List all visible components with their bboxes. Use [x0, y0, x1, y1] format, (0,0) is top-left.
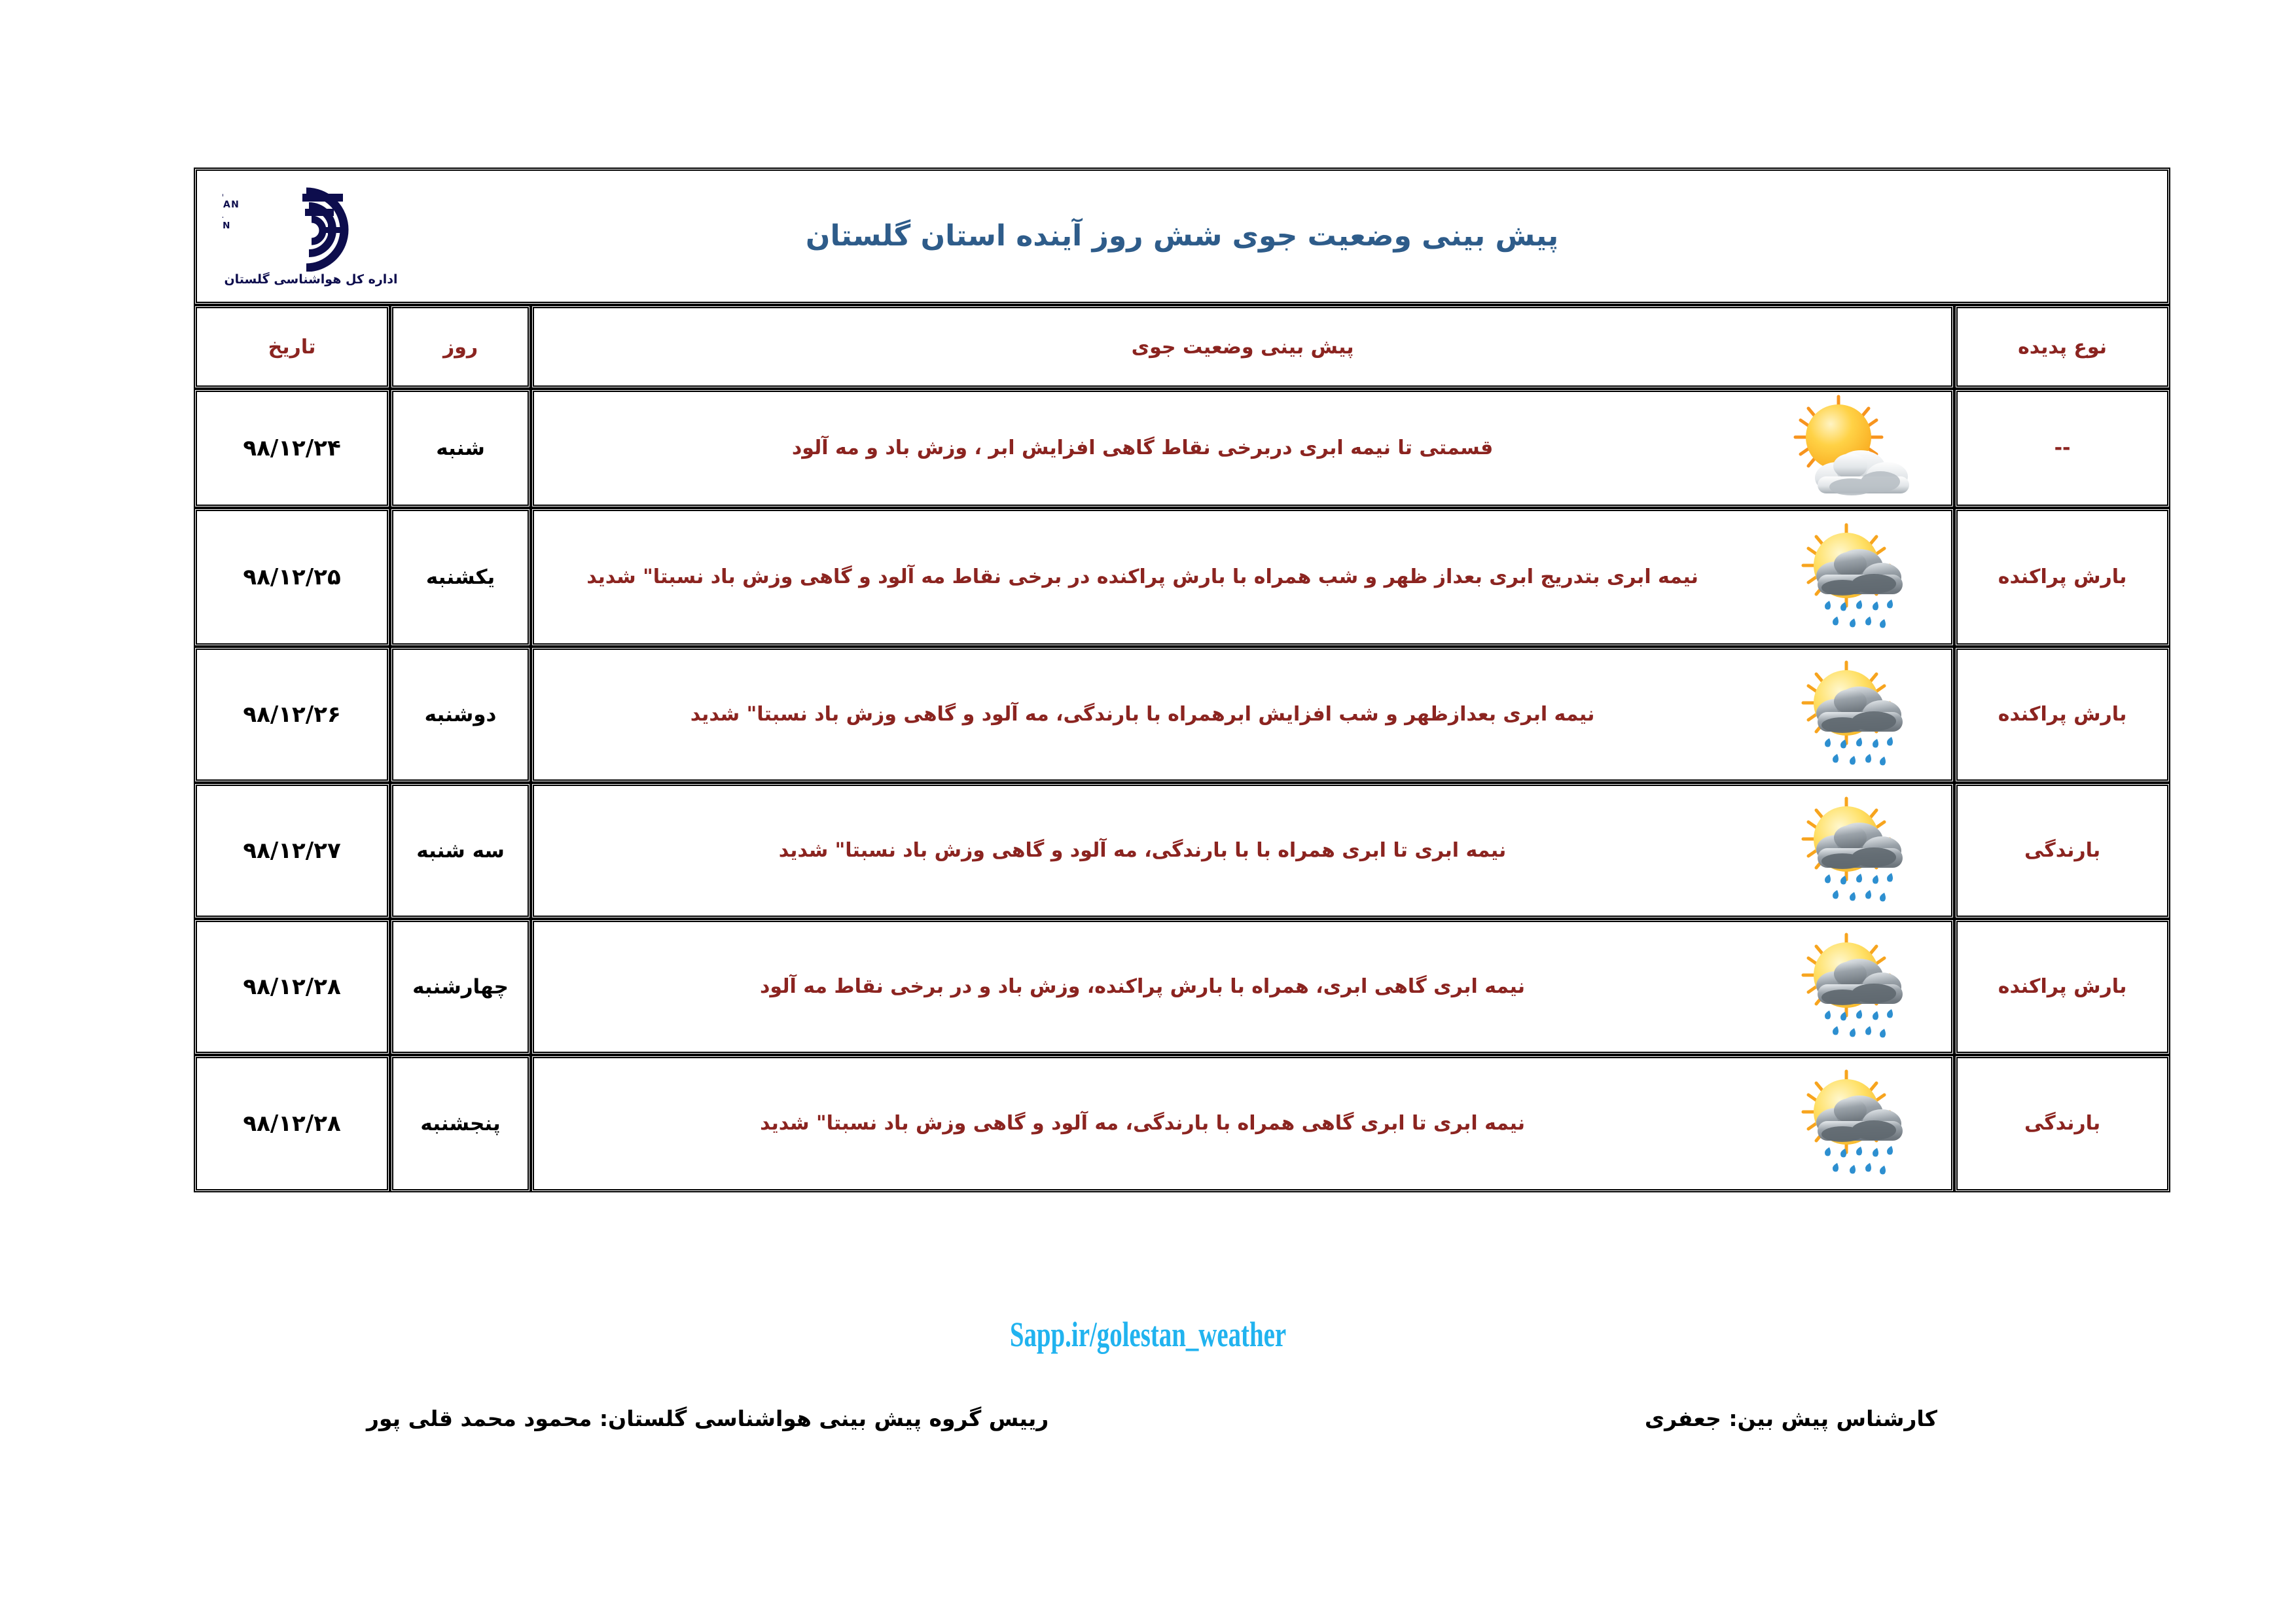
sun-cloud-rain-icon — [1782, 794, 1924, 907]
meteorological-spiral-icon: سازمان هواشناسی کشور IRANIAN METEOROLOGI… — [223, 185, 399, 272]
cell-date: ۹۸/۱۲/۲۸ — [194, 1055, 390, 1192]
page-title: پیش بینی وضعیت جوی شش روز آینده استان گل… — [197, 217, 2167, 255]
cell-date: ۹۸/۱۲/۲۷ — [194, 783, 390, 919]
partly-cloudy-icon — [1782, 394, 1924, 503]
cell-phenomenon: -- — [1954, 389, 2170, 508]
cell-day: یکشنبه — [390, 508, 531, 647]
cell-day: شنبه — [390, 389, 531, 508]
svg-text:IRANIAN: IRANIAN — [223, 200, 240, 210]
weather-icon-slot — [1755, 1067, 1951, 1180]
cell-forecast: نیمه ابری تا ابری گاهی همراه با بارندگی،… — [531, 1055, 1954, 1192]
forecast-text: نیمه ابری بتدریج ابری بعداز ظهر و شب همر… — [534, 550, 1755, 605]
table-row: -- — [194, 389, 2170, 508]
svg-text:ORGANIZATION: ORGANIZATION — [223, 221, 230, 231]
cell-phenomenon: بارندگی — [1954, 783, 2170, 919]
title-cell: پیش بینی وضعیت جوی شش روز آینده استان گل… — [194, 168, 2170, 305]
svg-text:سازمان هواشناسی کشور: سازمان هواشناسی کشور — [223, 190, 224, 200]
cell-date: ۹۸/۱۲/۲۵ — [194, 508, 390, 647]
table-row: بارش پراکنده — [194, 647, 2170, 783]
table-row: بارندگی — [194, 1055, 2170, 1192]
cell-day: چهارشنبه — [390, 919, 531, 1055]
sun-cloud-rain-icon — [1782, 658, 1924, 771]
title-row: پیش بینی وضعیت جوی شش روز آینده استان گل… — [194, 168, 2170, 305]
forecast-table: پیش بینی وضعیت جوی شش روز آینده استان گل… — [194, 168, 2170, 1192]
sun-cloud-rain-icon — [1782, 521, 1924, 633]
weather-icon-slot — [1755, 394, 1951, 503]
weather-icon-slot — [1755, 521, 1951, 633]
cell-forecast: نیمه ابری تا ابری همراه با با بارندگی، م… — [531, 783, 1954, 919]
cell-forecast: نیمه ابری گاهی ابری، همراه با بارش پراکن… — [531, 919, 1954, 1055]
column-header-date: تاریخ — [194, 305, 390, 389]
sun-cloud-rain-icon — [1782, 931, 1924, 1043]
document-page: پیش بینی وضعیت جوی شش روز آینده استان گل… — [0, 0, 2296, 1623]
cell-day: پنجشنبه — [390, 1055, 531, 1192]
weather-icon-slot — [1755, 794, 1951, 907]
svg-text:METEOROLOGICAL: METEOROLOGICAL — [223, 210, 224, 221]
table-row: بارش پراکنده — [194, 919, 2170, 1055]
organization-logo: سازمان هواشناسی کشور IRANIAN METEOROLOGI… — [213, 175, 409, 296]
cell-forecast: نیمه ابری بعدازظهر و شب افزایش ابرهمراه … — [531, 647, 1954, 783]
cell-phenomenon: بارش پراکنده — [1954, 508, 2170, 647]
weather-icon-slot — [1755, 931, 1951, 1043]
sun-cloud-rain-icon — [1782, 1067, 1924, 1180]
cell-date: ۹۸/۱۲/۲۶ — [194, 647, 390, 783]
column-header-forecast: پیش بینی وضعیت جوی — [531, 305, 1954, 389]
forecaster-signature: کارشناس پیش بین: جعفری — [1645, 1406, 1937, 1431]
forecast-text: نیمه ابری تا ابری گاهی همراه با بارندگی،… — [534, 1097, 1755, 1151]
forecast-text: نیمه ابری تا ابری همراه با با بارندگی، م… — [534, 824, 1755, 878]
cell-date: ۹۸/۱۲/۲۴ — [194, 389, 390, 508]
forecast-text: قسمتی تا نیمه ابری دربرخی نقاط گاهی افزا… — [534, 421, 1755, 476]
logo-caption: اداره کل هواشناسی گلستان — [224, 272, 397, 287]
cell-phenomenon: بارش پراکنده — [1954, 647, 2170, 783]
cell-day: سه شنبه — [390, 783, 531, 919]
weather-icon-slot — [1755, 658, 1951, 771]
cell-forecast: قسمتی تا نیمه ابری دربرخی نقاط گاهی افزا… — [531, 389, 1954, 508]
signature-row: کارشناس پیش بین: جعفری رییس گروه پیش بین… — [367, 1406, 1937, 1431]
cell-phenomenon: بارش پراکنده — [1954, 919, 2170, 1055]
sapp-channel-link[interactable]: Sapp.ir/golestan_weather — [321, 1314, 1975, 1355]
table-row: بارندگی — [194, 783, 2170, 919]
cell-phenomenon: بارندگی — [1954, 1055, 2170, 1192]
forecast-text: نیمه ابری بعدازظهر و شب افزایش ابرهمراه … — [534, 688, 1755, 742]
table-header-row: نوع پدیده پیش بینی وضعیت جوی روز تاریخ — [194, 305, 2170, 389]
column-header-day: روز — [390, 305, 531, 389]
cell-day: دوشنبه — [390, 647, 531, 783]
forecast-text: نیمه ابری گاهی ابری، همراه با بارش پراکن… — [534, 960, 1755, 1014]
cell-forecast: نیمه ابری بتدریج ابری بعداز ظهر و شب همر… — [531, 508, 1954, 647]
table-row: بارش پراکنده — [194, 508, 2170, 647]
cell-date: ۹۸/۱۲/۲۸ — [194, 919, 390, 1055]
column-header-phenomenon: نوع پدیده — [1954, 305, 2170, 389]
manager-signature: رییس گروه پیش بینی هواشناسی گلستان: محمو… — [367, 1406, 1049, 1431]
